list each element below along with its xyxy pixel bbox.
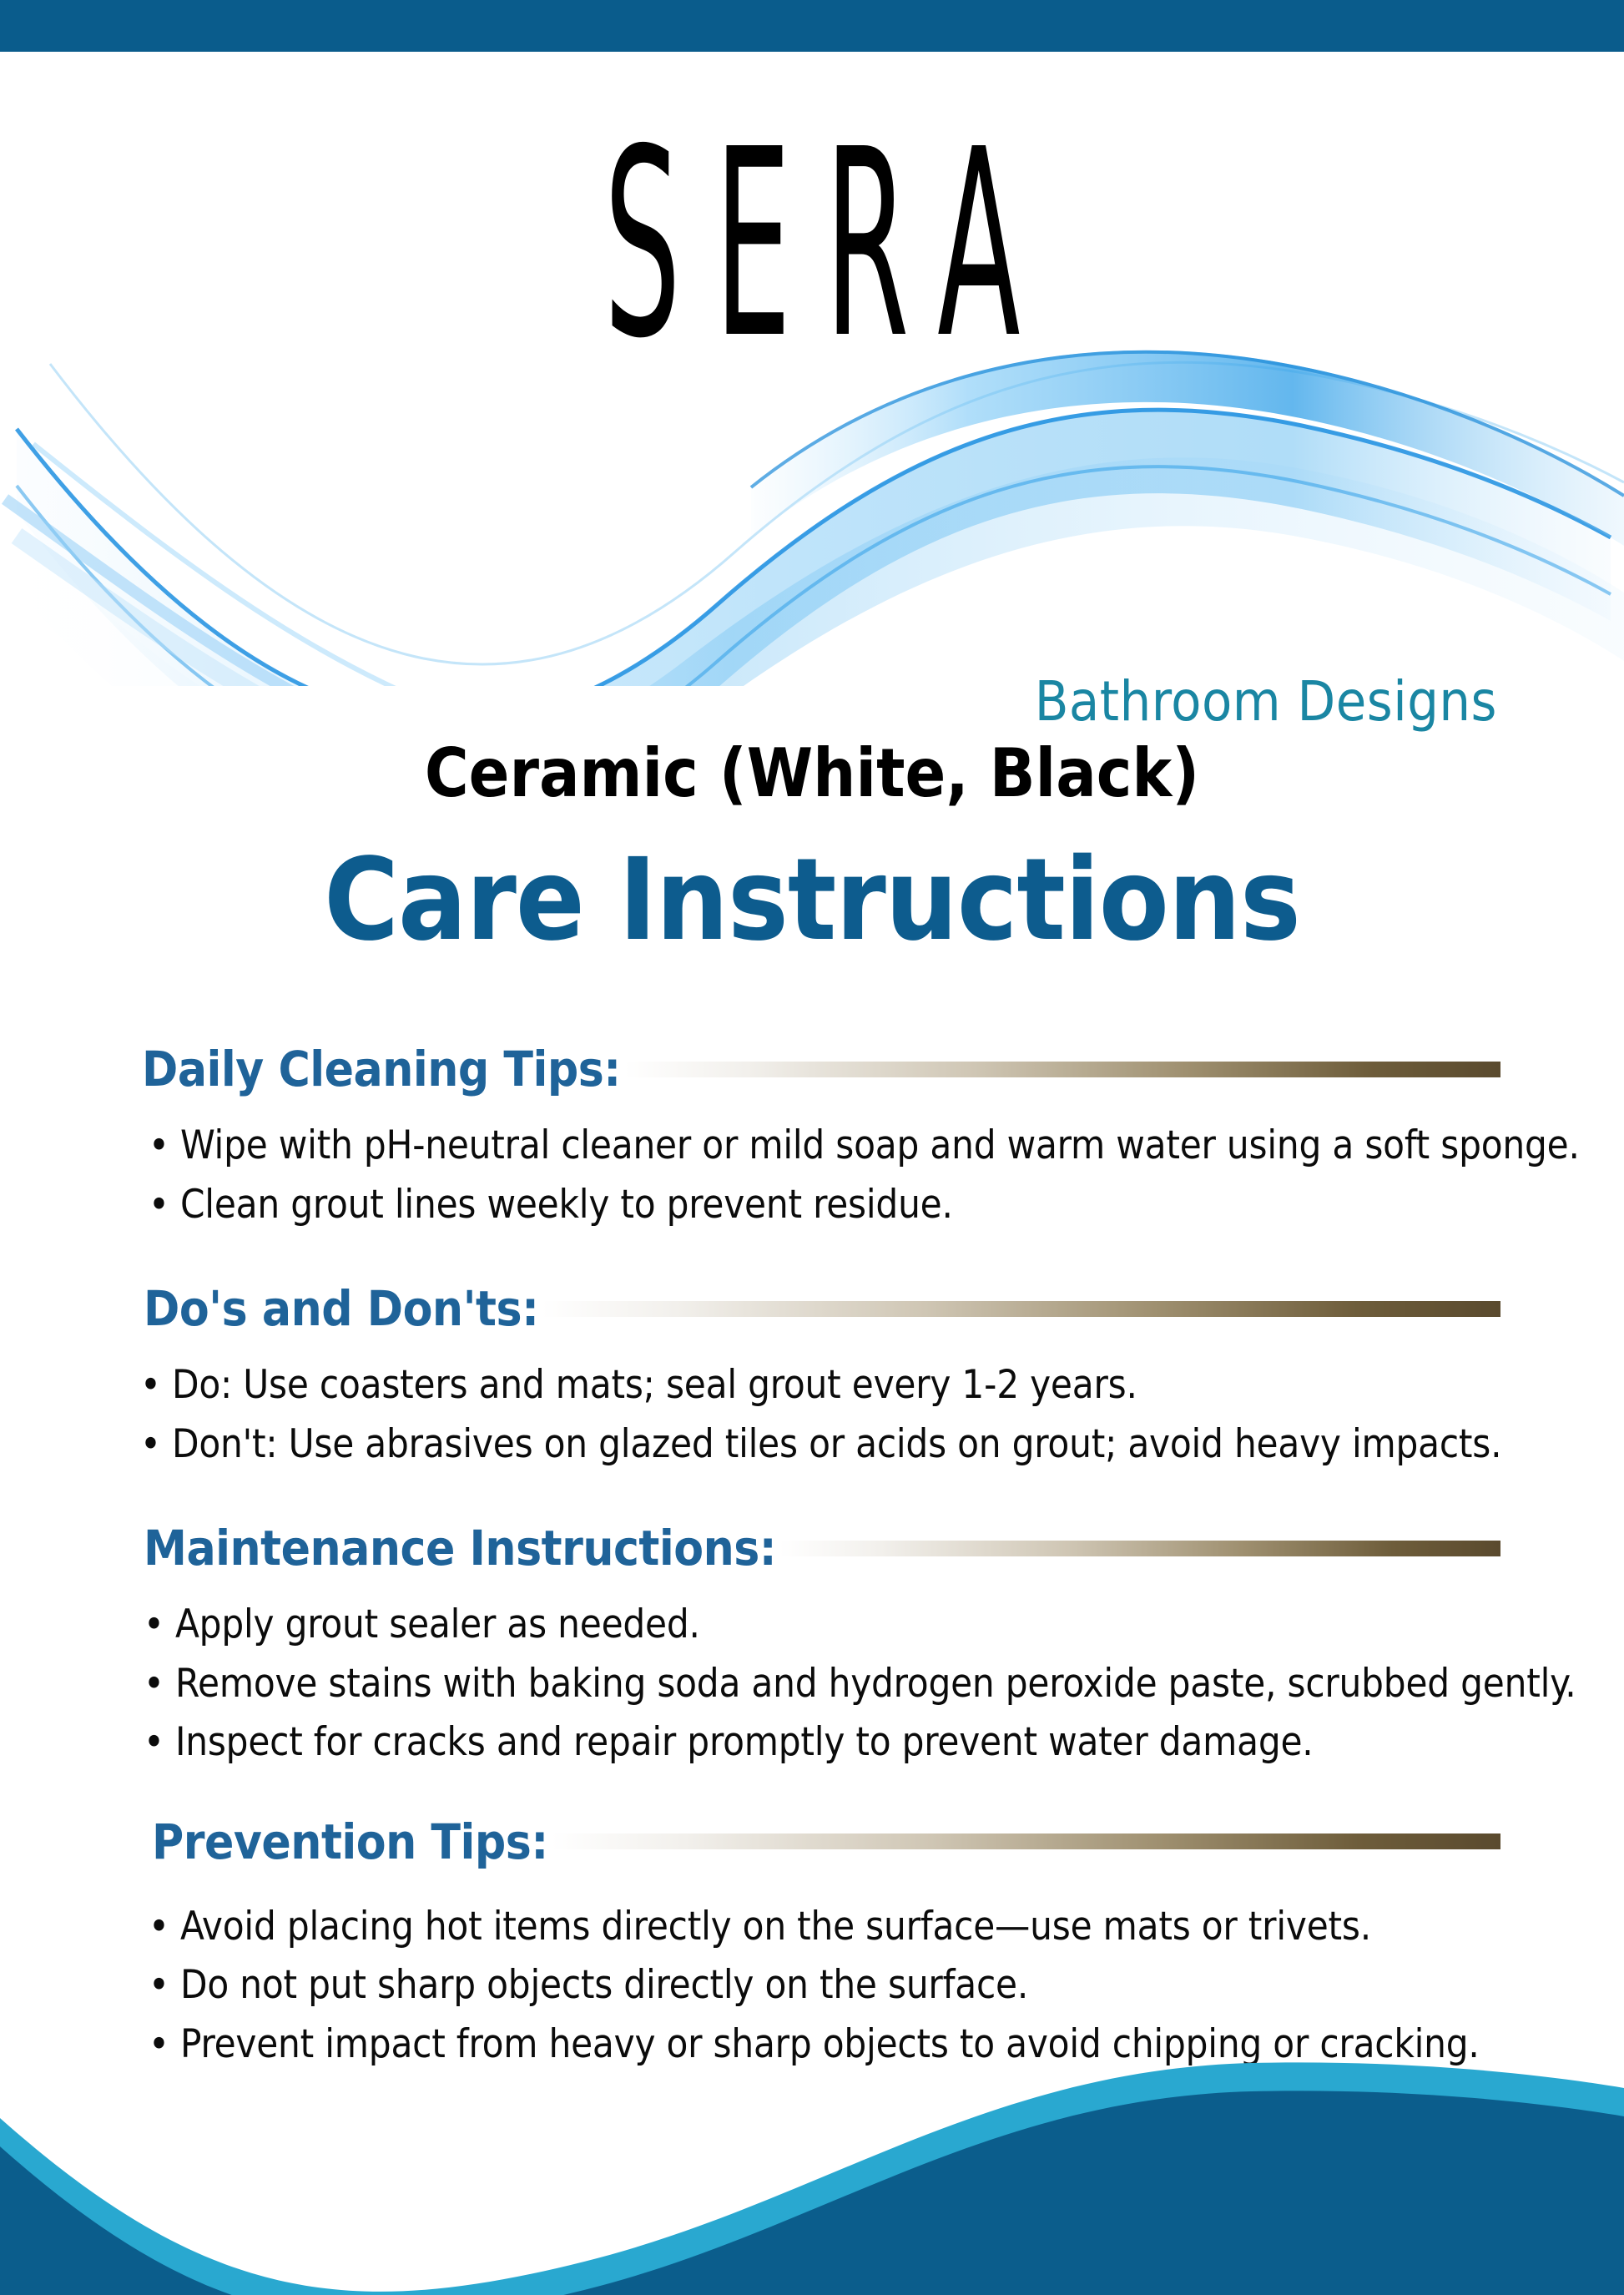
section-bullet-list: • Wipe with pH-neutral cleaner or mild s… — [0, 1117, 1624, 1234]
list-item: • Do not put sharp objects directly on t… — [149, 1956, 1524, 2015]
list-item: • Don't: Use abrasives on glazed tiles o… — [140, 1415, 1524, 1475]
section-dos-and-donts: Do's and Don'ts: • Do: Use coasters and … — [0, 1283, 1624, 1474]
section-rule-gradient — [624, 1062, 1500, 1077]
section-header: Do's and Don'ts: — [0, 1283, 1624, 1334]
section-header: Daily Cleaning Tips: — [0, 1043, 1624, 1095]
page-title: Care Instructions — [0, 835, 1624, 966]
list-item: • Avoid placing hot items directly on th… — [149, 1898, 1524, 1957]
list-item: • Clean grout lines weekly to prevent re… — [149, 1176, 1524, 1235]
section-header: Prevention Tips: — [0, 1816, 1624, 1868]
section-heading: Do's and Don'ts: — [144, 1280, 538, 1337]
section-header: Maintenance Instructions: — [0, 1522, 1624, 1574]
product-subtitle: Ceramic (White, Black) — [0, 734, 1624, 812]
brand-tagline: Bathroom Designs — [1035, 669, 1497, 734]
list-item: • Do: Use coasters and mats; seal grout … — [140, 1356, 1524, 1415]
section-rule-gradient — [542, 1301, 1500, 1317]
section-rule-gradient — [779, 1541, 1500, 1556]
section-bullet-list: • Do: Use coasters and mats; seal grout … — [0, 1356, 1624, 1474]
section-heading: Daily Cleaning Tips: — [142, 1041, 621, 1097]
section-rule-gradient — [552, 1833, 1500, 1849]
section-prevention-tips: Prevention Tips: • Avoid placing hot ite… — [0, 1816, 1624, 2075]
list-item: • Apply grout sealer as needed. — [144, 1596, 1524, 1655]
section-bullet-list: • Apply grout sealer as needed. • Remove… — [0, 1596, 1624, 1773]
list-item: • Inspect for cracks and repair promptly… — [144, 1713, 1524, 1773]
top-accent-bar — [0, 0, 1624, 52]
instruction-sections: Daily Cleaning Tips: • Wipe with pH-neut… — [0, 1043, 1624, 2074]
section-daily-cleaning-tips: Daily Cleaning Tips: • Wipe with pH-neut… — [0, 1043, 1624, 1234]
list-item: • Remove stains with baking soda and hyd… — [144, 1655, 1524, 1714]
section-bullet-list: • Avoid placing hot items directly on th… — [0, 1898, 1624, 2075]
brand-header: SERA — [0, 52, 1624, 703]
list-item: • Wipe with pH-neutral cleaner or mild s… — [149, 1117, 1524, 1176]
section-heading: Prevention Tips: — [152, 1813, 548, 1870]
footer-wave-graphic — [0, 2053, 1624, 2295]
section-heading: Maintenance Instructions: — [144, 1520, 776, 1576]
brand-wordmark: SERA — [390, 123, 1234, 369]
section-maintenance-instructions: Maintenance Instructions: • Apply grout … — [0, 1522, 1624, 1773]
